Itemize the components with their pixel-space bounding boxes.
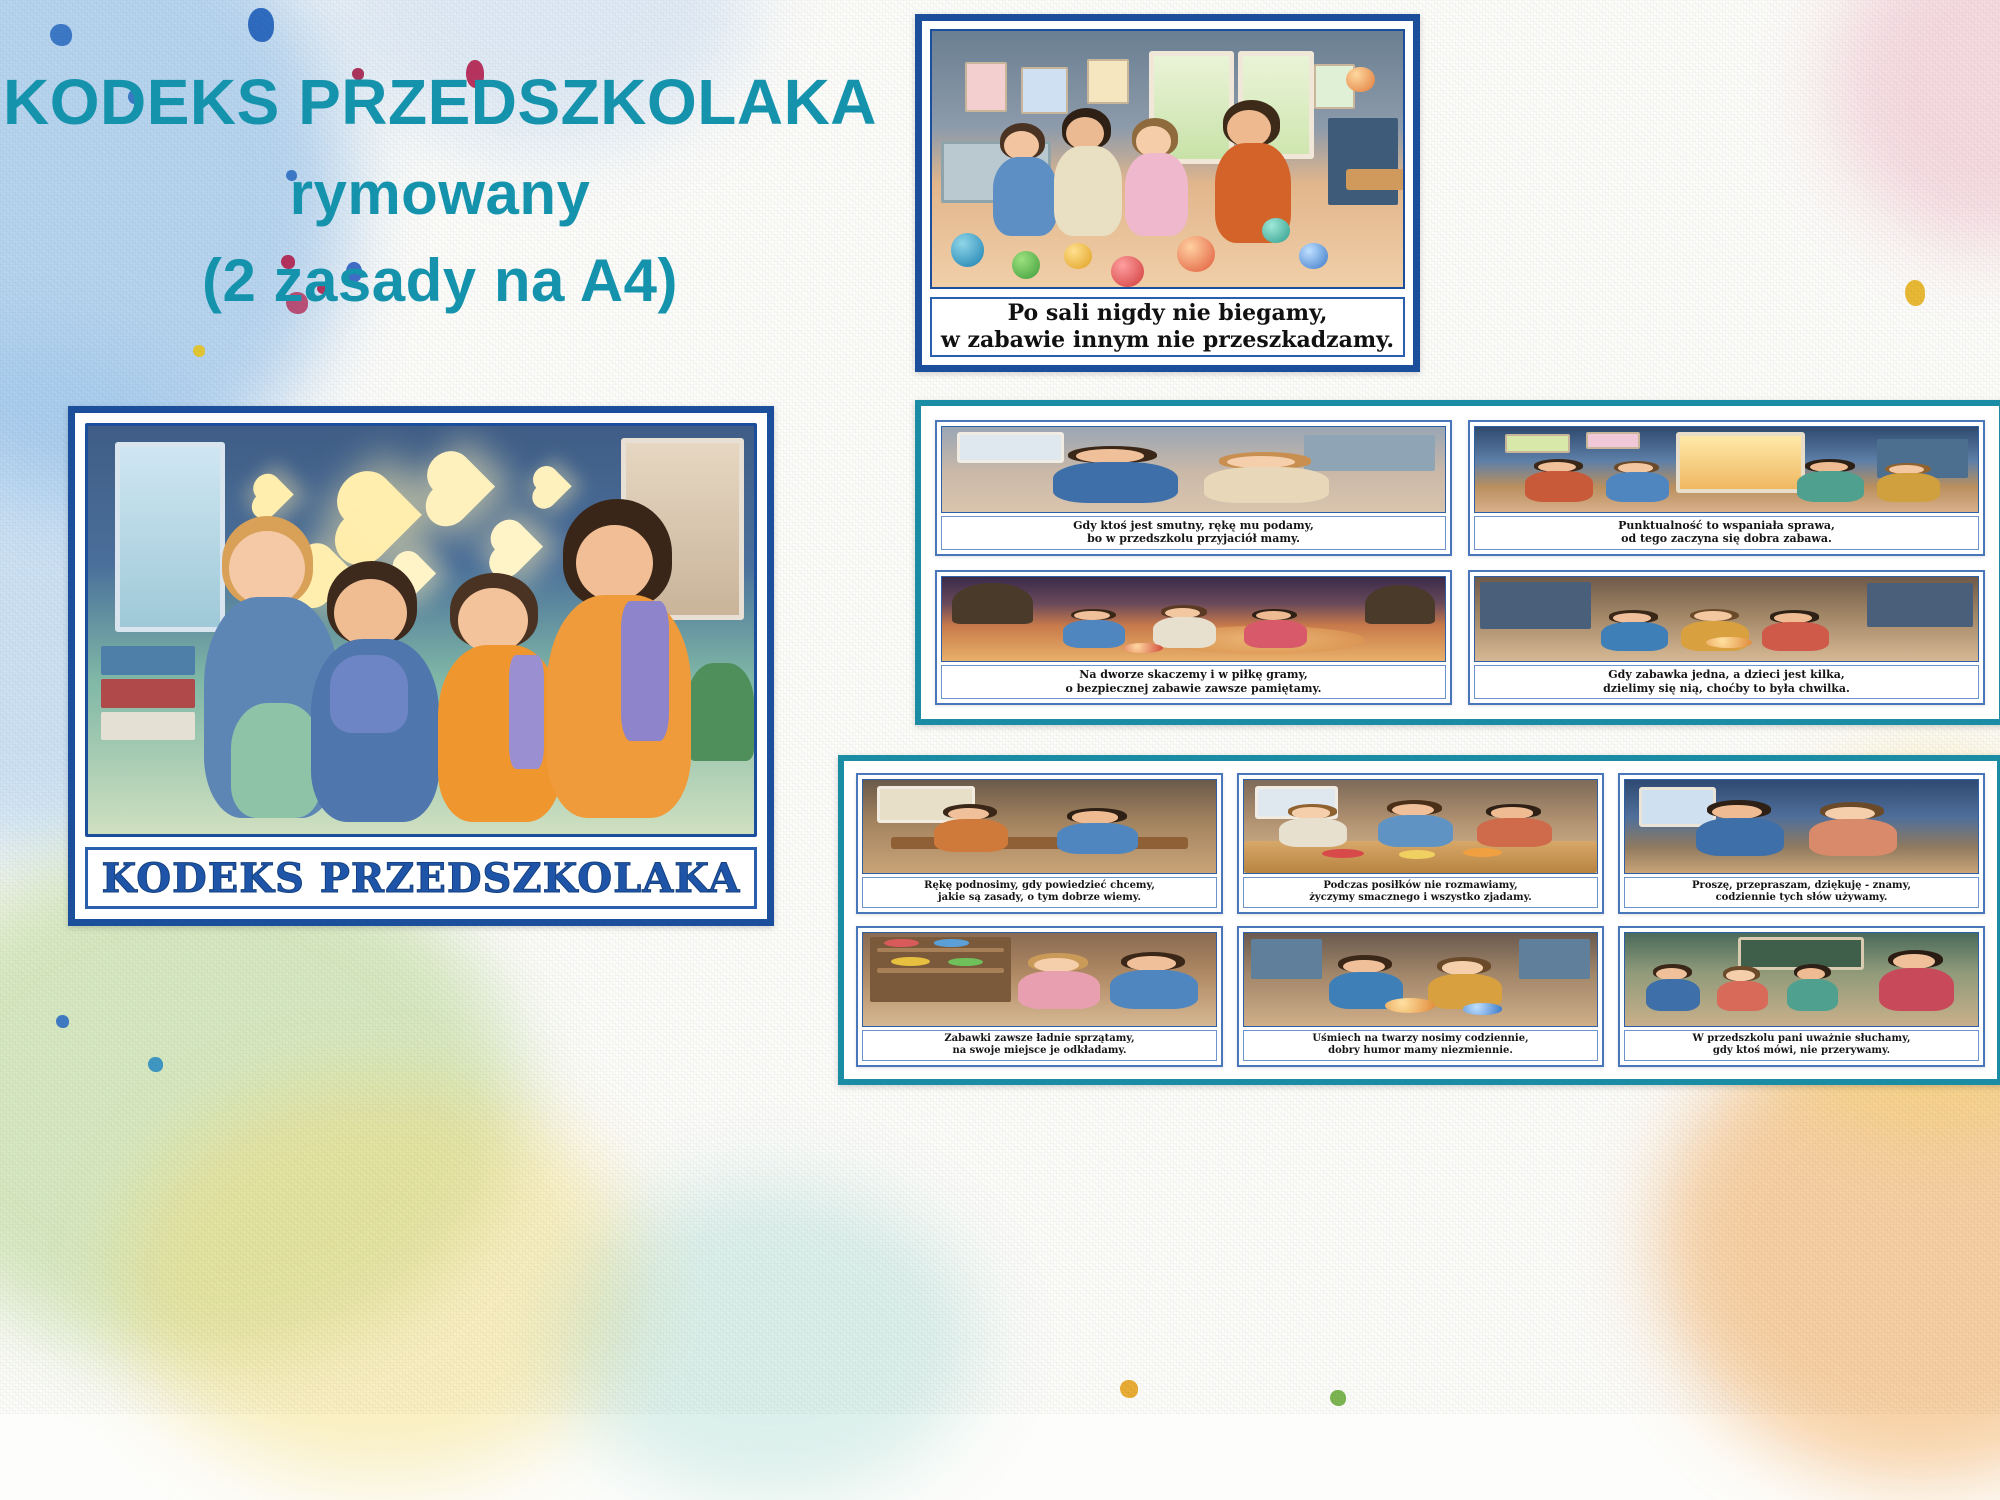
ball bbox=[1299, 243, 1327, 269]
child-figure bbox=[1125, 118, 1191, 236]
caption-line: w zabawie innym nie przeszkadzamy. bbox=[941, 327, 1394, 355]
rule-card-listening[interactable]: W przedszkolu pani uważnie słuchamy, gdy… bbox=[1618, 926, 1985, 1067]
rule-card-outdoor-play[interactable]: Na dworze skaczemy i w piłkę gramy, o be… bbox=[935, 570, 1452, 706]
rule-caption-box: Uśmiech na twarzy nosimy codziennie, dob… bbox=[1243, 1030, 1598, 1061]
ball bbox=[1177, 236, 1215, 272]
rule-card-punctuality[interactable]: Punktualność to wspaniała sprawa, od teg… bbox=[1468, 420, 1985, 556]
caption-line: Podczas posiłków nie rozmawiamy, bbox=[1323, 880, 1517, 892]
meals-illustration bbox=[1243, 779, 1598, 874]
rule-caption-box: Punktualność to wspaniała sprawa, od teg… bbox=[1474, 516, 1979, 550]
rule-caption-box: Gdy ktoś jest smutny, rękę mu podamy, bo… bbox=[941, 516, 1446, 550]
caption-line: Na dworze skaczemy i w piłkę gramy, bbox=[1079, 668, 1307, 681]
punctuality-illustration bbox=[1474, 426, 1979, 513]
polite-words-illustration bbox=[1624, 779, 1979, 874]
sharing-illustration bbox=[1474, 576, 1979, 663]
title-line-2: rymowany bbox=[0, 163, 880, 224]
rule-caption-box: Gdy zabawka jedna, a dzieci jest kilka, … bbox=[1474, 665, 1979, 699]
child-figure bbox=[1054, 108, 1125, 236]
smile-illustration bbox=[1243, 932, 1598, 1027]
rule-caption-box: Proszę, przepraszam, dziękuję - znamy, c… bbox=[1624, 877, 1979, 908]
caption-line: Rękę podnosimy, gdy powiedzieć chcemy, bbox=[924, 880, 1155, 892]
glowing-heart bbox=[495, 524, 543, 572]
title-line-1: KODEKS PRZEDSZKOLAKA bbox=[0, 70, 880, 135]
rule-caption-box: Podczas posiłków nie rozmawiamy, życzymy… bbox=[1243, 877, 1598, 908]
tidy-toys-illustration bbox=[862, 932, 1217, 1027]
glowing-heart bbox=[256, 477, 293, 514]
rule-card-raise-hand[interactable]: Rękę podnosimy, gdy powiedzieć chcemy, j… bbox=[856, 773, 1223, 914]
rule-card-friendship[interactable]: Gdy ktoś jest smutny, rękę mu podamy, bo… bbox=[935, 420, 1452, 556]
hero-caption-box: KODEKS PRZEDSZKOLAKA bbox=[85, 847, 757, 909]
rule-caption-box: Po sali nigdy nie biegamy, w zabawie inn… bbox=[930, 297, 1405, 357]
caption-line: Po sali nigdy nie biegamy, bbox=[1008, 300, 1328, 328]
rule-card-tidy-toys[interactable]: Zabawki zawsze ładnie sprzątamy, na swoj… bbox=[856, 926, 1223, 1067]
caption-line: o bezpiecznej zabawie zawsze pamiętamy. bbox=[1066, 682, 1322, 695]
raise-hand-illustration bbox=[862, 779, 1217, 874]
hero-caption-text: KODEKS PRZEDSZKOLAKA bbox=[102, 855, 741, 902]
caption-line: dzielimy się nią, choćby to była chwilka… bbox=[1603, 682, 1850, 695]
title-line-3: (2 zasady na A4) bbox=[0, 250, 880, 311]
caption-line: bo w przedszkolu przyjaciół mamy. bbox=[1087, 532, 1300, 545]
rule-caption-box: Zabawki zawsze ładnie sprzątamy, na swoj… bbox=[862, 1030, 1217, 1061]
caption-line: Uśmiech na twarzy nosimy codziennie, bbox=[1312, 1033, 1528, 1045]
rule-card-no-running[interactable]: Po sali nigdy nie biegamy, w zabawie inn… bbox=[915, 14, 1420, 372]
ball bbox=[951, 233, 984, 266]
child-figure bbox=[541, 499, 701, 817]
child-figure bbox=[993, 123, 1059, 236]
caption-line: Gdy zabawka jedna, a dzieci jest kilka, bbox=[1608, 668, 1844, 681]
rule-card-smile[interactable]: Uśmiech na twarzy nosimy codziennie, dob… bbox=[1237, 926, 1604, 1067]
caption-line: Gdy ktoś jest smutny, rękę mu podamy, bbox=[1073, 519, 1314, 532]
glowing-heart bbox=[433, 457, 495, 519]
caption-line: codziennie tych słów używamy. bbox=[1716, 892, 1888, 904]
wall-picture bbox=[965, 62, 1007, 112]
rules-grid-four[interactable]: Gdy ktoś jest smutny, rękę mu podamy, bo… bbox=[915, 400, 2000, 725]
outdoor-play-illustration bbox=[941, 576, 1446, 663]
hero-illustration bbox=[85, 423, 757, 837]
caption-line: od tego zaczyna się dobra zabawa. bbox=[1621, 532, 1832, 545]
caption-line: dobry humor mamy niezmiennie. bbox=[1328, 1045, 1513, 1057]
rules-grid-six[interactable]: Rękę podnosimy, gdy powiedzieć chcemy, j… bbox=[838, 755, 2000, 1085]
page-title: KODEKS PRZEDSZKOLAKA rymowany (2 zasady … bbox=[0, 70, 880, 312]
rule-card-sharing[interactable]: Gdy zabawka jedna, a dzieci jest kilka, … bbox=[1468, 570, 1985, 706]
rule-caption-box: Na dworze skaczemy i w piłkę gramy, o be… bbox=[941, 665, 1446, 699]
table bbox=[1346, 169, 1405, 189]
caption-line: jakie są zasady, o tym dobrze wiemy. bbox=[938, 892, 1141, 904]
rule-caption-box: W przedszkolu pani uważnie słuchamy, gdy… bbox=[1624, 1030, 1979, 1061]
rule-caption-box: Rękę podnosimy, gdy powiedzieć chcemy, j… bbox=[862, 877, 1217, 908]
caption-line: gdy ktoś mówi, nie przerywamy. bbox=[1713, 1045, 1890, 1057]
book-stack bbox=[101, 679, 194, 708]
ball bbox=[1346, 67, 1374, 93]
caption-line: Proszę, przepraszam, dziękuję - znamy, bbox=[1692, 880, 1911, 892]
caption-line: życzymy smacznego i wszystko zjadamy. bbox=[1309, 892, 1532, 904]
glowing-heart bbox=[344, 478, 422, 556]
ball bbox=[1064, 243, 1092, 269]
friendship-illustration bbox=[941, 426, 1446, 513]
listening-illustration bbox=[1624, 932, 1979, 1027]
caption-line: Zabawki zawsze ładnie sprzątamy, bbox=[944, 1033, 1134, 1045]
classroom-balls-illustration bbox=[930, 29, 1405, 289]
child-figure bbox=[308, 561, 448, 822]
ball bbox=[1111, 256, 1144, 287]
wall-picture bbox=[1087, 59, 1129, 104]
bookshelf bbox=[1328, 118, 1399, 205]
hero-poster-card[interactable]: KODEKS PRZEDSZKOLAKA bbox=[68, 406, 774, 926]
book-stack bbox=[101, 712, 194, 741]
book-stack bbox=[101, 646, 194, 675]
caption-line: Punktualność to wspaniała sprawa, bbox=[1618, 519, 1835, 532]
rule-card-meals[interactable]: Podczas posiłków nie rozmawiamy, życzymy… bbox=[1237, 773, 1604, 914]
caption-line: W przedszkolu pani uważnie słuchamy, bbox=[1693, 1033, 1911, 1045]
rule-card-polite-words[interactable]: Proszę, przepraszam, dziękuję - znamy, c… bbox=[1618, 773, 1985, 914]
ball bbox=[1012, 251, 1040, 279]
caption-line: na swoje miejsce je odkładamy. bbox=[952, 1045, 1126, 1057]
